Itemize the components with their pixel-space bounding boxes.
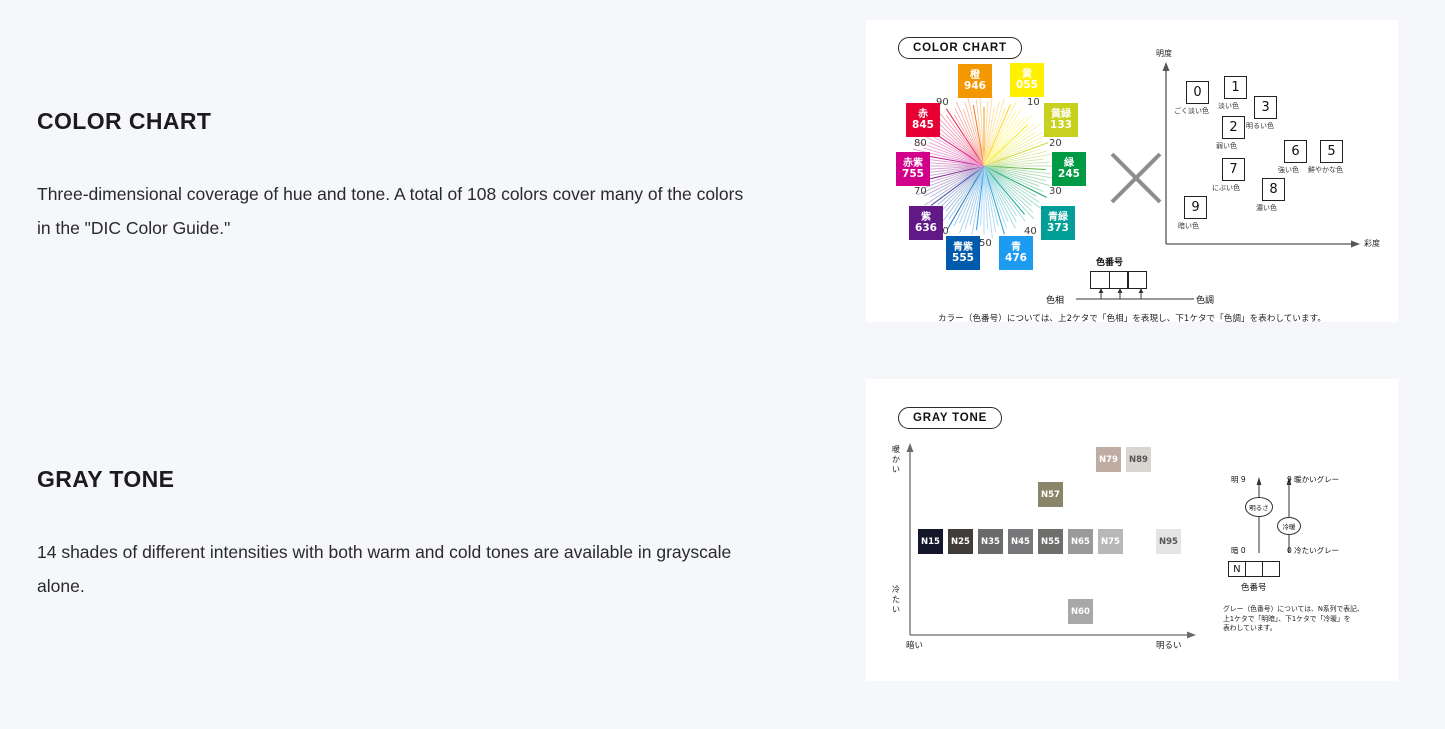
hue-swatch-green: 緑 245 <box>1052 152 1086 186</box>
tone-box-6: 6 <box>1284 140 1307 163</box>
hue-swatch-orange: 橙 946 <box>958 64 992 98</box>
gray-swatch-n79: N79 <box>1096 447 1121 472</box>
gray-legend-brightness-circle: 明るさ <box>1245 497 1273 517</box>
hue-swatch-orange-num: 946 <box>964 81 986 92</box>
gray-axis-warm-label: 暖かい <box>890 445 902 475</box>
tone-label-0: ごく淡い色 <box>1174 106 1209 116</box>
gray-code-title: 色番号 <box>1241 581 1267 593</box>
tone-box-0: 0 <box>1186 81 1209 104</box>
color-chart-paragraph: Three-dimensional coverage of hue and to… <box>37 177 757 245</box>
gray-code-cell-2 <box>1245 561 1263 577</box>
color-chart-description-block: COLOR CHART Three-dimensional coverage o… <box>37 108 757 245</box>
tone-axis-x-label: 彩度 <box>1364 238 1380 249</box>
tone-label-7: にぶい色 <box>1212 183 1240 193</box>
tone-axis-y-label: 明度 <box>1156 48 1172 59</box>
tone-label-2: 弱い色 <box>1216 141 1237 151</box>
hue-swatch-red-purple: 赤紫 755 <box>896 152 930 186</box>
tone-box-1: 1 <box>1224 76 1247 99</box>
tone-label-1: 淡い色 <box>1218 101 1239 111</box>
gray-legend-warm-top: 9 暖かいグレー <box>1287 474 1339 485</box>
gray-tone-heading: GRAY TONE <box>37 466 757 493</box>
hue-swatch-blue-green: 青緑 373 <box>1041 206 1075 240</box>
hue-swatch-red-num: 845 <box>912 120 934 131</box>
gray-tone-panel: GRAY TONE 暖かい 冷たい 暗い 明るい N15 N25 N35 N45… <box>866 379 1398 681</box>
hue-swatch-blue-num: 476 <box>1005 253 1027 264</box>
hue-swatch-green-num: 245 <box>1058 169 1080 180</box>
tone-box-9: 9 <box>1184 196 1207 219</box>
gray-caption-line-1: グレー（色番号）については、N系列で表記、 <box>1223 605 1373 615</box>
hue-swatch-blue-green-num: 373 <box>1047 223 1069 234</box>
gray-legend-warm-bottom: 0 冷たいグレー <box>1287 545 1339 556</box>
hue-swatch-yellow: 黄 055 <box>1010 63 1044 97</box>
gray-swatch-n45: N45 <box>1008 529 1033 554</box>
hue-tick-50: 50 <box>979 238 992 249</box>
gray-swatch-n25: N25 <box>948 529 973 554</box>
color-chart-panel: COLOR CHART 00 10 20 30 40 50 60 70 80 9… <box>866 20 1398 322</box>
gray-swatch-n89: N89 <box>1126 447 1151 472</box>
tone-box-5: 5 <box>1320 140 1343 163</box>
gray-swatch-n35: N35 <box>978 529 1003 554</box>
hue-swatch-red: 赤 845 <box>906 103 940 137</box>
gray-code-cell-3 <box>1262 561 1280 577</box>
color-chart-caption: カラー（色番号）については、上2ケタで「色相」を表現し、下1ケタで「色調」を表わ… <box>866 312 1398 324</box>
hue-swatch-blue-violet-num: 555 <box>952 253 974 264</box>
gray-caption-line-3: 表わしています。 <box>1223 624 1373 634</box>
hue-swatch-red-purple-num: 755 <box>902 169 924 180</box>
gray-swatch-n95: N95 <box>1156 529 1181 554</box>
hue-swatch-yellow-green-num: 133 <box>1050 120 1072 131</box>
gray-tone-description-block: GRAY TONE 14 shades of different intensi… <box>37 466 757 603</box>
hue-tick-20: 20 <box>1049 138 1062 149</box>
description-column: COLOR CHART Three-dimensional coverage o… <box>37 0 797 729</box>
gray-axis-dark-label: 暗い <box>906 639 923 651</box>
tone-label-8: 濃い色 <box>1256 203 1277 213</box>
gray-legend-bright-top: 明 9 <box>1231 474 1246 485</box>
hue-swatch-purple: 紫 636 <box>909 206 943 240</box>
tone-label-6: 強い色 <box>1278 165 1299 175</box>
hue-tick-80: 80 <box>914 138 927 149</box>
gray-tone-caption: グレー（色番号）については、N系列で表記、 上1ケタで「明暗」、下1ケタで「冷暖… <box>1223 605 1373 634</box>
gray-code-cells: N <box>1229 561 1280 577</box>
hue-swatch-blue: 青 476 <box>999 236 1033 270</box>
tone-label-9: 暗い色 <box>1178 221 1199 231</box>
gray-swatch-n75: N75 <box>1098 529 1123 554</box>
gray-tone-paragraph: 14 shades of different intensities with … <box>37 535 757 603</box>
tone-box-7: 7 <box>1222 158 1245 181</box>
hue-swatch-blue-violet: 青紫 555 <box>946 236 980 270</box>
tone-label-5: 鮮やかな色 <box>1308 165 1343 175</box>
gray-legend-bright-bottom: 暗 0 <box>1231 545 1246 556</box>
gray-code-legend: 明 9 9 暖かいグレー 暗 0 0 冷たいグレー 明るさ 冷暖 N 色番号 グ… <box>1221 469 1381 654</box>
hue-tick-70: 70 <box>914 186 927 197</box>
hue-wheel-diagram: 00 10 20 30 40 50 60 70 80 90 橙 946 黄 05… <box>884 58 1084 278</box>
gray-tone-badge: GRAY TONE <box>898 407 1002 429</box>
gray-tone-plot: 暖かい 冷たい 暗い 明るい N15 N25 N35 N45 N55 N65 N… <box>888 439 1218 654</box>
gray-legend-warmth-circle: 冷暖 <box>1277 517 1301 535</box>
gray-swatch-n55: N55 <box>1038 529 1063 554</box>
tone-label-3: 明るい色 <box>1246 121 1274 131</box>
tone-box-2: 2 <box>1222 116 1245 139</box>
gray-code-cell-prefix: N <box>1228 561 1246 577</box>
tone-axes <box>1144 48 1386 276</box>
tone-quadrant-diagram: 明度 彩度 0 ごく淡い色 1 淡い色 3 明るい色 2 弱い色 6 強い色 5… <box>1144 48 1386 276</box>
color-code-hue-label: 色相 <box>1046 293 1064 306</box>
color-code-legend: 色番号 色相 色調 <box>1046 255 1226 307</box>
page-root: COLOR CHART Three-dimensional coverage o… <box>0 0 1445 729</box>
hue-tick-10: 10 <box>1027 97 1040 108</box>
tone-box-3: 3 <box>1254 96 1277 119</box>
color-code-tone-label: 色調 <box>1196 293 1214 306</box>
hue-swatch-yellow-green: 黄緑 133 <box>1044 103 1078 137</box>
gray-caption-line-2: 上1ケタで「明暗」、下1ケタで「冷暖」を <box>1223 615 1373 625</box>
gray-swatch-n65: N65 <box>1068 529 1093 554</box>
hue-tick-30: 30 <box>1049 186 1062 197</box>
gray-axis-cold-label: 冷たい <box>890 585 902 615</box>
color-chart-heading: COLOR CHART <box>37 108 757 135</box>
hue-swatch-purple-num: 636 <box>915 223 937 234</box>
gray-swatch-n60: N60 <box>1068 599 1093 624</box>
hue-swatch-yellow-num: 055 <box>1016 80 1038 91</box>
gray-swatch-n57: N57 <box>1038 482 1063 507</box>
tone-box-8: 8 <box>1262 178 1285 201</box>
gray-axis-bright-label: 明るい <box>1156 639 1182 651</box>
gray-swatch-n15: N15 <box>918 529 943 554</box>
color-chart-badge: COLOR CHART <box>898 37 1022 59</box>
